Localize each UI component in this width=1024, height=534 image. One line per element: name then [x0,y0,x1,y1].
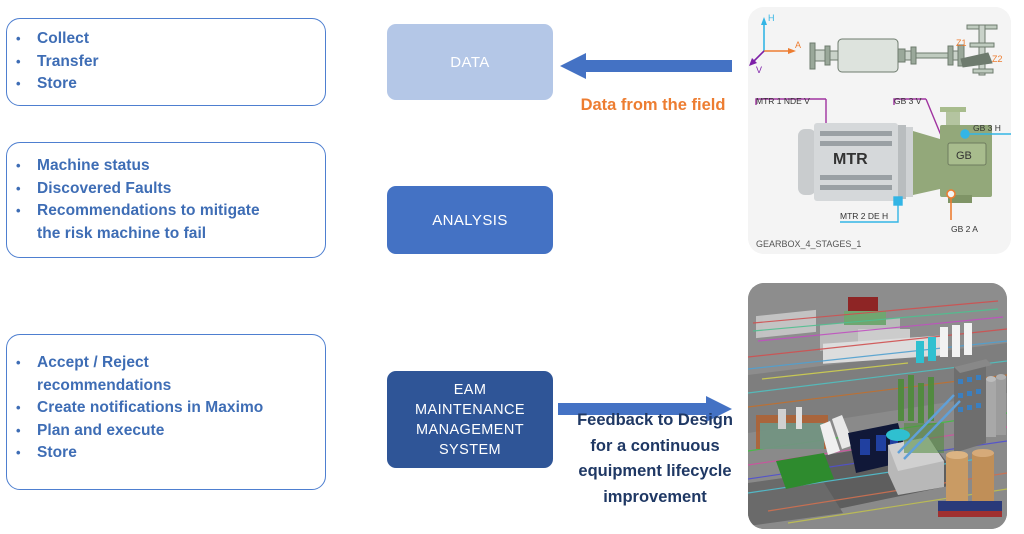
bullet-icon: • [7,73,37,96]
svg-text:A: A [795,40,801,50]
shaft-label-z2: Z2 [992,54,1003,64]
list-item: • Store [7,442,325,465]
svg-text:H: H [768,13,775,23]
data-from-field-caption-text: Data from the field [581,96,726,114]
list-item-label: Machine status [37,155,325,178]
list-item-label: the risk machine to fail [7,223,325,246]
feedback-caption-line: improvement [551,485,759,511]
data-from-field-arrow-icon [560,50,732,82]
list-item-label: Store [37,73,325,96]
svg-text:V: V [756,65,762,75]
list-item: • Machine status [7,155,325,178]
bullet-icon: • [7,178,37,201]
machine-diagram-image: H A V [748,7,1011,254]
eam-process-label-group: EAM MAINTENANCE MANAGEMENT SYSTEM [415,380,525,460]
bullet-icon: • [7,397,37,420]
plant-model-svg [748,283,1007,529]
list-item-label: Plan and execute [37,420,325,443]
maximo-panel: • Accept / Reject recommendations • Crea… [6,334,326,490]
list-item-label: Discovered Faults [37,178,325,201]
list-item: • Collect [7,28,325,51]
list-item: • Transfer [7,51,325,74]
list-item: • Create notifications in Maximo [7,397,325,420]
bullet-icon: • [7,420,37,443]
list-item-label: Create notifications in Maximo [37,397,325,420]
data-process-box: DATA [387,24,553,100]
list-item-label: Accept / Reject [37,352,325,375]
measurement-label-mtr2deh: MTR 2 DE H [840,211,888,221]
bullet-icon: • [7,442,37,465]
machine-diagram-svg: H A V [748,7,1011,254]
status-panel: • Machine status • Discovered Faults • R… [6,142,326,258]
bullet-icon: • [7,155,37,178]
measurement-label-gb2a: GB 2 A [951,224,978,234]
collect-panel-list: • Collect • Transfer • Store [7,19,325,96]
list-item-label: recommendations [7,375,325,398]
eam-process-label-line: EAM [415,380,525,400]
feedback-caption-line: Feedback to Design [551,408,759,434]
list-item-label: Recommendations to mitigate [37,200,325,223]
motor-label: MTR [833,151,868,168]
list-item-continuation: recommendations [7,375,325,398]
plant-model-image [748,283,1007,529]
data-from-field-caption: Data from the field [556,94,750,116]
shaft-label-z1: Z1 [956,38,967,48]
bullet-icon: • [7,200,37,223]
data-process-label: DATA [450,52,489,73]
eam-process-label-line: SYSTEM [415,440,525,460]
maximo-panel-list: • Accept / Reject recommendations • Crea… [7,335,325,465]
eam-process-label-line: MAINTENANCE [415,400,525,420]
list-item-continuation: the risk machine to fail [7,223,325,246]
feedback-to-design-caption: Feedback to Design for a continuous equi… [551,408,759,510]
measurement-label-gb3h: GB 3 H [973,123,1001,133]
feedback-caption-line: for a continuous [551,434,759,460]
gearbox-label: GB [956,150,972,162]
list-item-label: Collect [37,28,325,51]
list-item: • Recommendations to mitigate [7,200,325,223]
bullet-icon: • [7,28,37,51]
feedback-caption-line: equipment lifecycle [551,459,759,485]
machine-diagram-caption: GEARBOX_4_STAGES_1 [756,239,861,249]
measurement-label-mtr1ndev: MTR 1 NDE V [756,96,810,106]
eam-process-box: EAM MAINTENANCE MANAGEMENT SYSTEM [387,371,553,468]
analysis-process-box: ANALYSIS [387,186,553,254]
list-item: • Store [7,73,325,96]
analysis-process-label: ANALYSIS [432,210,507,231]
list-item: • Accept / Reject [7,352,325,375]
diagram-canvas: • Collect • Transfer • Store • Machine s… [0,0,1024,534]
bullet-icon: • [7,352,37,375]
collect-panel: • Collect • Transfer • Store [6,18,326,106]
list-item: • Plan and execute [7,420,325,443]
eam-process-label-line: MANAGEMENT [415,420,525,440]
status-panel-list: • Machine status • Discovered Faults • R… [7,143,325,245]
measurement-label-gb3v: GB 3 V [894,96,922,106]
list-item-label: Store [37,442,325,465]
list-item: • Discovered Faults [7,178,325,201]
list-item-label: Transfer [37,51,325,74]
bullet-icon: • [7,51,37,74]
